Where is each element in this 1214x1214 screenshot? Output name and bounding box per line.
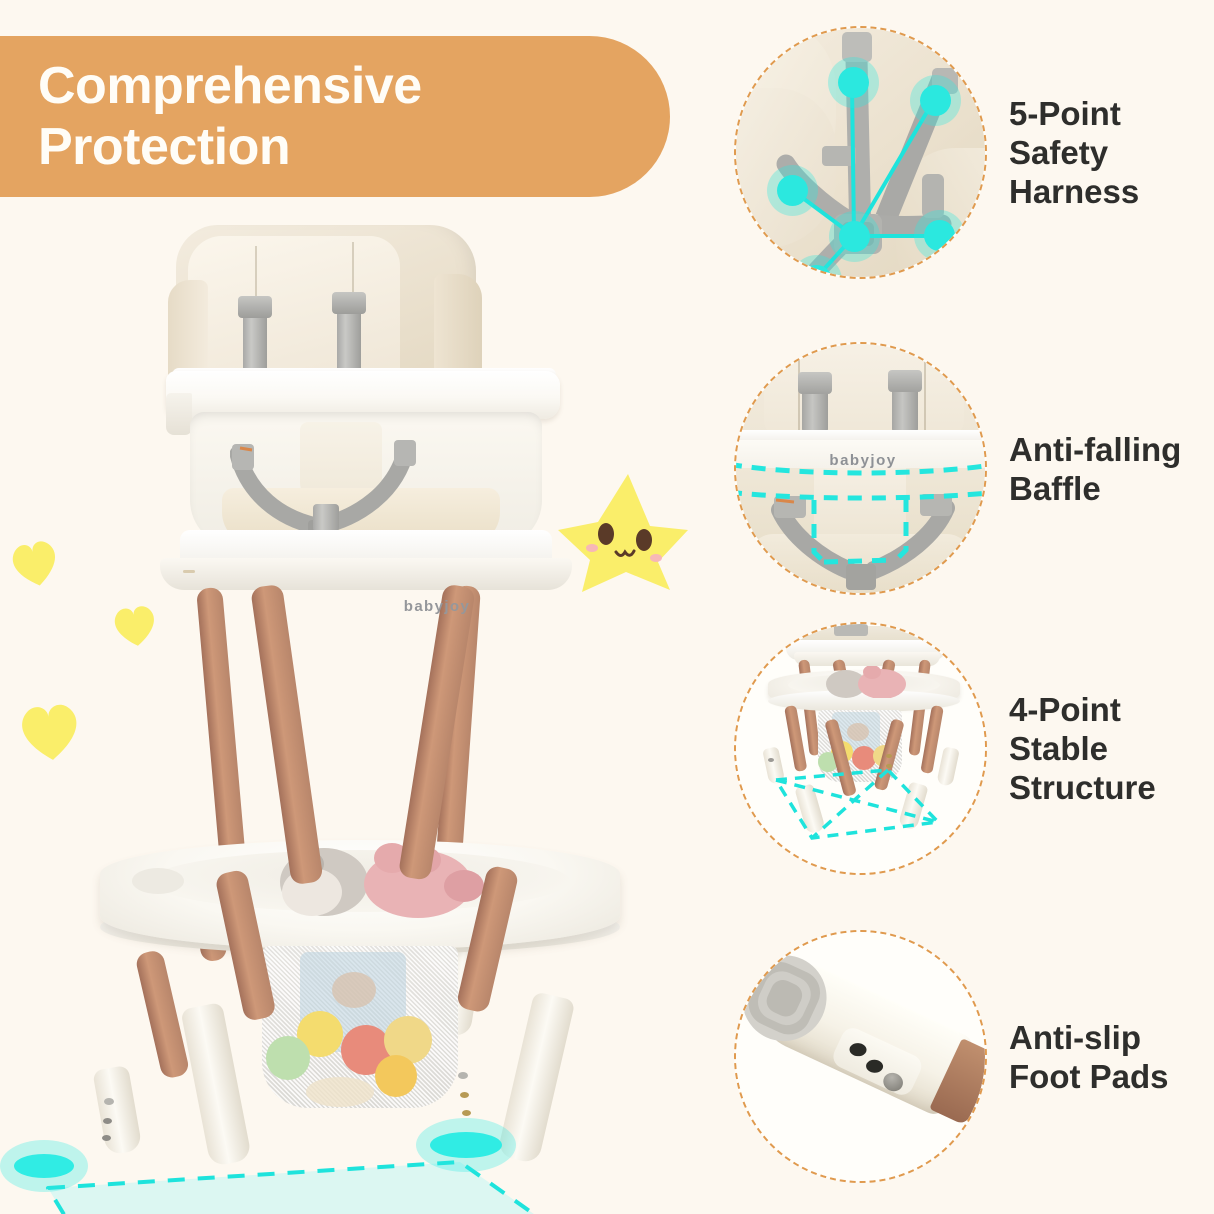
seat-base-skirt: [160, 558, 572, 590]
foot-marker-back-right: [430, 1132, 502, 1158]
brand-logo-tray: babyjoy: [382, 598, 492, 615]
crotch-strap: [313, 504, 339, 532]
banner-line-1: Comprehensive: [38, 56, 670, 117]
foot-pad-leg-group: [736, 941, 984, 1122]
foot-pad-photo: [736, 932, 985, 1181]
feature-label-safety-harness: 5-Point Safety Harness: [1009, 94, 1139, 211]
feature-safety-harness: 5-Point Safety Harness: [734, 26, 1139, 279]
product-photo-high-chair: babyjoy: [0, 200, 700, 1214]
yellow-heart-icon-3: [13, 697, 87, 766]
feature-label-stable-structure: 4-Point Stable Structure: [1009, 690, 1156, 807]
seat-backrest-inner: [188, 236, 400, 386]
harness-point-4: [924, 220, 955, 251]
harness-point-3: [777, 175, 808, 206]
banner-line-2: Protection: [38, 117, 670, 178]
feature-anti-falling-baffle: babyjoy: [734, 342, 1181, 595]
structure-photo: [736, 624, 985, 873]
infographic-canvas: Comprehensive Protection: [0, 0, 1214, 1214]
baffle-photo: babyjoy: [736, 344, 985, 593]
feature-image-safety-harness: [734, 26, 987, 279]
harness-point-1: [838, 67, 869, 98]
strap-adjuster-left: [238, 296, 272, 318]
feature-image-stable-structure: [734, 622, 987, 875]
yellow-heart-icon-2: [107, 599, 163, 652]
feature-stable-structure: 4-Point Stable Structure: [734, 622, 1156, 875]
upper-tray-arm: [166, 393, 192, 435]
feature-label-anti-falling-baffle: Anti-falling Baffle: [1009, 430, 1181, 508]
harness-photo: [736, 28, 985, 277]
base-seam: [183, 570, 195, 573]
foot-marker-back-left: [14, 1154, 74, 1178]
leg-front-left-wood: [250, 584, 323, 886]
feature-label-anti-slip-foot-pads: Anti-slip Foot Pads: [1009, 1018, 1169, 1096]
baffle-dashed-outline: [736, 344, 985, 593]
structure-dashed-quad: [736, 624, 985, 873]
feature-anti-slip-foot-pads: Anti-slip Foot Pads: [734, 930, 1169, 1183]
title-banner: Comprehensive Protection: [0, 36, 670, 197]
footprint-highlight: [0, 940, 700, 1214]
harness-point-2: [920, 85, 951, 116]
leg-back-left-wood: [196, 587, 245, 858]
yellow-heart-icon-1: [3, 533, 66, 593]
feature-image-anti-slip-foot-pads: [734, 930, 987, 1183]
strap-adjuster-right: [332, 292, 366, 314]
feature-image-anti-falling-baffle: babyjoy: [734, 342, 987, 595]
harness-point-center: [839, 221, 870, 252]
smiling-star-icon: [552, 468, 692, 594]
lower-tray-cup-holder: [132, 868, 184, 894]
